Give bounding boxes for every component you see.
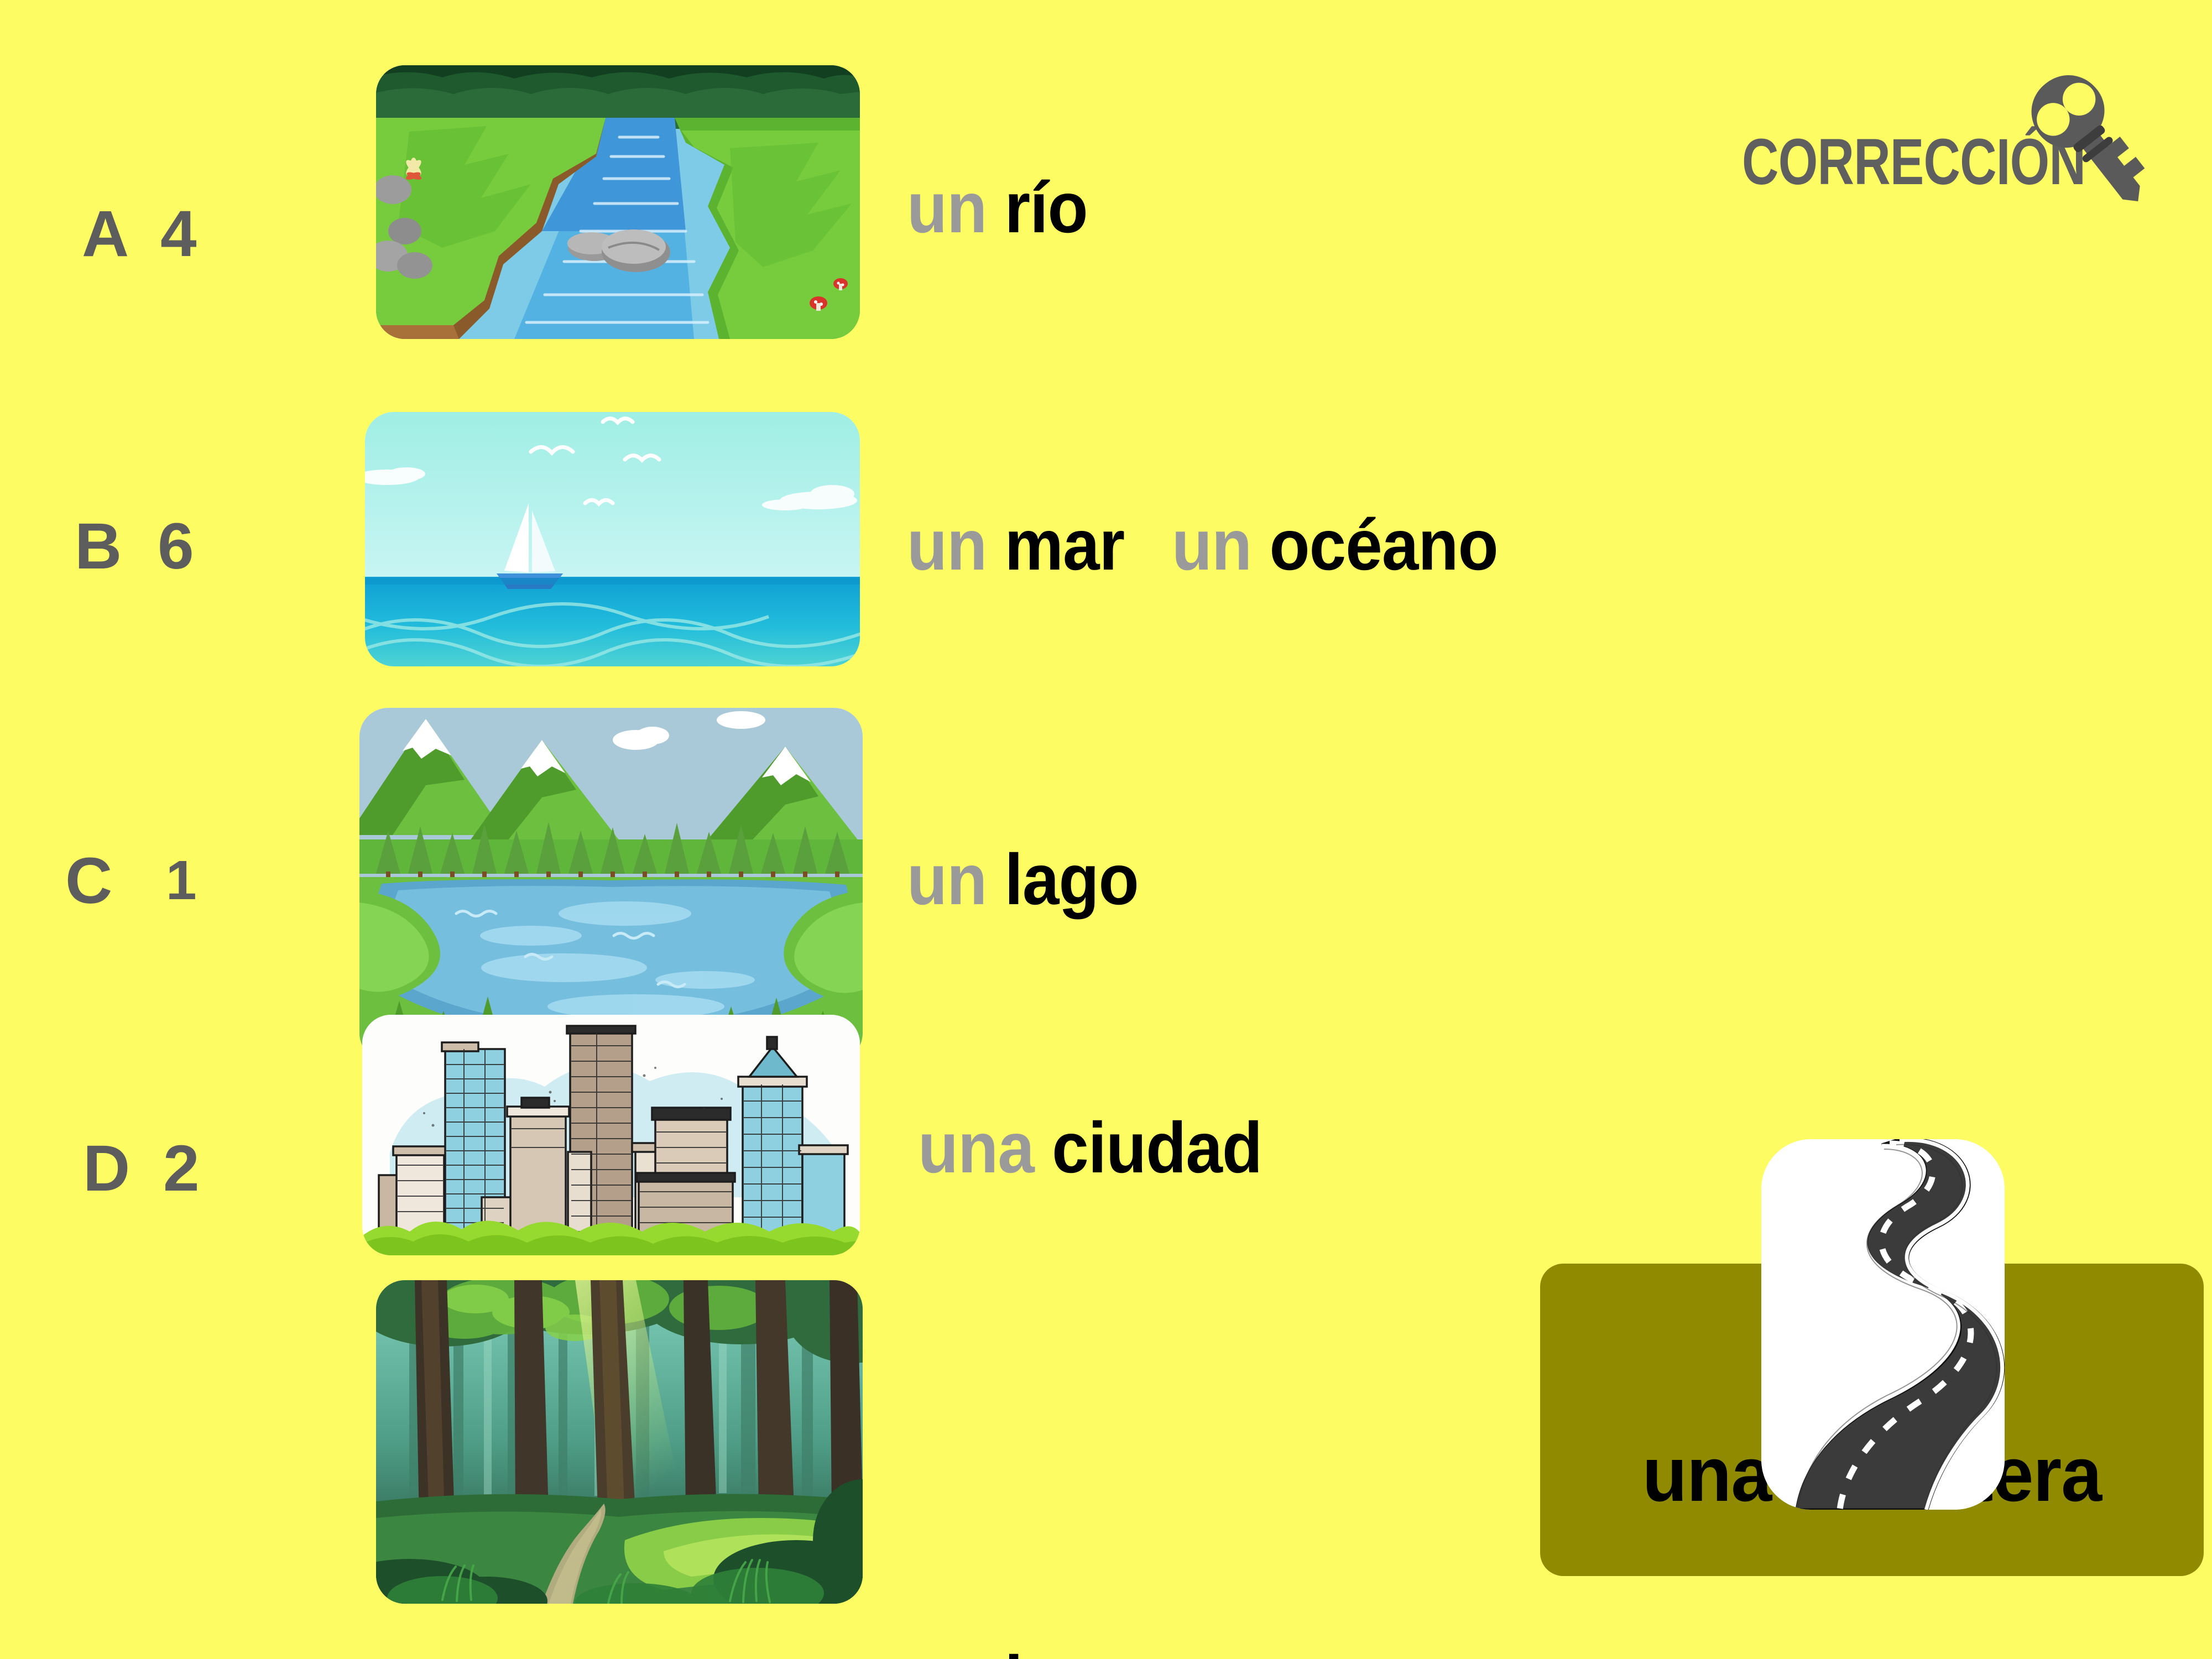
row-phrases-d: una ciudad bbox=[918, 1106, 1262, 1189]
row-letter: C bbox=[65, 844, 113, 917]
phrase: un lago bbox=[907, 839, 1139, 920]
noun: río bbox=[1005, 167, 1088, 248]
noun: mar bbox=[1005, 504, 1125, 585]
phrase: un océano bbox=[1172, 504, 1498, 585]
phrase: un bosque bbox=[907, 1641, 1237, 1659]
article: un bbox=[1172, 504, 1251, 585]
row-number-c: 1 bbox=[166, 849, 198, 912]
article: un bbox=[907, 504, 987, 585]
noun: océano bbox=[1270, 504, 1498, 585]
row-number: 6 bbox=[158, 510, 195, 583]
row-number-d: 2 bbox=[163, 1131, 201, 1206]
forest-image bbox=[376, 1280, 863, 1604]
phrase: un río bbox=[907, 167, 1088, 248]
article: un bbox=[907, 167, 987, 248]
row-number: 1 bbox=[166, 849, 198, 911]
row-letter: A bbox=[82, 197, 130, 270]
row-number-a: 4 bbox=[160, 196, 198, 272]
winding-road-image bbox=[1761, 1139, 2005, 1510]
table-row: A 4 bbox=[0, 0, 2212, 354]
article: un bbox=[907, 1641, 987, 1659]
row-letter-a: A bbox=[82, 196, 130, 272]
row-number: 4 bbox=[160, 197, 198, 270]
row-phrases-e: un bosque bbox=[907, 1640, 1237, 1659]
table-row: B 6 bbox=[0, 354, 2212, 669]
table-row: C 1 bbox=[0, 669, 2212, 1012]
row-letter-c: C bbox=[65, 843, 113, 919]
phrase: un mar bbox=[907, 504, 1142, 585]
row-phrases-a: un río bbox=[907, 166, 1088, 249]
city-image bbox=[362, 1015, 860, 1255]
lake-image bbox=[359, 708, 863, 1062]
row-number: 2 bbox=[163, 1132, 201, 1205]
slide-canvas: CORRECCIÓN A 4 bbox=[0, 0, 2212, 1659]
sea-image bbox=[365, 412, 860, 666]
river-image bbox=[376, 65, 860, 339]
row-letter-b: B bbox=[75, 509, 123, 584]
row-phrases-b: un mar un océano bbox=[907, 503, 1498, 586]
article: un bbox=[907, 839, 987, 920]
phrase: una ciudad bbox=[918, 1107, 1262, 1188]
row-phrases-c: un lago bbox=[907, 838, 1139, 921]
row-number-b: 6 bbox=[158, 509, 195, 584]
noun: lago bbox=[1005, 839, 1139, 920]
row-letter: B bbox=[75, 510, 123, 583]
noun: ciudad bbox=[1052, 1107, 1262, 1188]
row-letter: D bbox=[83, 1132, 131, 1205]
noun: bosque bbox=[1005, 1641, 1237, 1659]
article: una bbox=[918, 1107, 1034, 1188]
row-letter-d: D bbox=[83, 1131, 131, 1206]
